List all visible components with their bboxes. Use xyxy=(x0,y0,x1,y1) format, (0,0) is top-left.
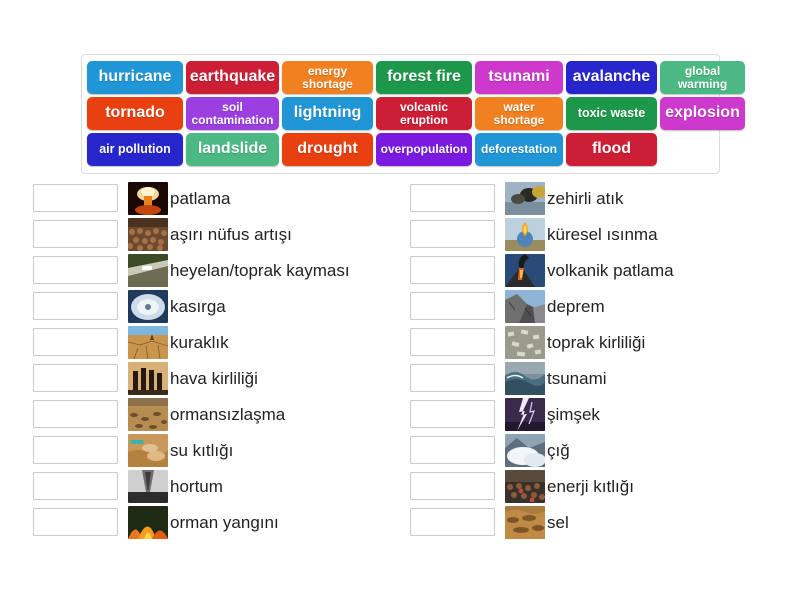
answer-label: sel xyxy=(547,514,569,531)
answer-drop-box[interactable] xyxy=(33,184,118,212)
word-tile-tsunami[interactable]: tsunami xyxy=(475,61,563,94)
word-tile-deforestation[interactable]: deforestation xyxy=(475,133,563,166)
word-tile-water-shortage[interactable]: water shortage xyxy=(475,97,563,130)
answer-drop-box[interactable] xyxy=(410,328,495,356)
answer-label: tsunami xyxy=(547,370,607,387)
answer-row: su kıtlığı xyxy=(33,432,413,468)
word-tile-earthquake[interactable]: earthquake xyxy=(186,61,279,94)
answer-row: patlama xyxy=(33,180,413,216)
crowd-overpopulation-thumbnail xyxy=(128,218,168,251)
energy-shortage-crowd-thumbnail xyxy=(505,470,545,503)
answer-label: su kıtlığı xyxy=(170,442,233,459)
right-answer-column: zehirli atıkküresel ısınmavolkanik patla… xyxy=(410,180,790,540)
word-tile-tornado[interactable]: tornado xyxy=(87,97,183,130)
word-tile-flood[interactable]: flood xyxy=(566,133,657,166)
left-answer-column: patlamaaşırı nüfus artışıheyelan/toprak … xyxy=(33,180,413,540)
answer-label: hortum xyxy=(170,478,223,495)
word-tile-air-pollution[interactable]: air pollution xyxy=(87,133,183,166)
answer-drop-box[interactable] xyxy=(410,256,495,284)
answer-row: enerji kıtlığı xyxy=(410,468,790,504)
smokestacks-air-pollution-thumbnail xyxy=(128,362,168,395)
answer-drop-box[interactable] xyxy=(33,436,118,464)
answer-label: kuraklık xyxy=(170,334,229,351)
earthquake-rubble-thumbnail xyxy=(505,290,545,323)
answer-row: tsunami xyxy=(410,360,790,396)
word-bank-row: hurricaneearthquakeenergy shortageforest… xyxy=(87,61,714,94)
answer-drop-box[interactable] xyxy=(33,256,118,284)
matchup-exercise-page: hurricaneearthquakeenergy shortageforest… xyxy=(0,0,800,600)
answer-drop-box[interactable] xyxy=(410,508,495,536)
answer-drop-box[interactable] xyxy=(410,400,495,428)
answer-drop-box[interactable] xyxy=(33,508,118,536)
soil-contamination-litter-thumbnail xyxy=(505,326,545,359)
answer-label: şimşek xyxy=(547,406,600,423)
answer-drop-box[interactable] xyxy=(410,364,495,392)
answer-drop-box[interactable] xyxy=(410,292,495,320)
word-tile-avalanche[interactable]: avalanche xyxy=(566,61,657,94)
answer-drop-box[interactable] xyxy=(33,328,118,356)
water-scarcity-hands-thumbnail xyxy=(128,434,168,467)
answer-row: toprak kirliliği xyxy=(410,324,790,360)
answer-drop-box[interactable] xyxy=(33,472,118,500)
volcanic-eruption-thumbnail xyxy=(505,254,545,287)
word-tile-lightning[interactable]: lightning xyxy=(282,97,373,130)
word-tile-drought[interactable]: drought xyxy=(282,133,373,166)
answer-row: hortum xyxy=(33,468,413,504)
answer-label: patlama xyxy=(170,190,230,207)
flood-thumbnail xyxy=(505,506,545,539)
answer-drop-box[interactable] xyxy=(33,400,118,428)
tsunami-wave-thumbnail xyxy=(505,362,545,395)
word-tile-hurricane[interactable]: hurricane xyxy=(87,61,183,94)
answer-label: orman yangını xyxy=(170,514,279,531)
answer-label: hava kirliliği xyxy=(170,370,258,387)
answer-row: kasırga xyxy=(33,288,413,324)
answer-row: küresel ısınma xyxy=(410,216,790,252)
answer-row: deprem xyxy=(410,288,790,324)
answer-row: sel xyxy=(410,504,790,540)
word-bank-row: tornadosoil contaminationlightningvolcan… xyxy=(87,97,714,130)
word-tile-overpopulation[interactable]: overpopulation xyxy=(376,133,472,166)
answer-label: heyelan/toprak kayması xyxy=(170,262,350,279)
deforestation-stumps-thumbnail xyxy=(128,398,168,431)
word-tile-forest-fire[interactable]: forest fire xyxy=(376,61,472,94)
answer-drop-box[interactable] xyxy=(410,436,495,464)
drought-cracked-earth-thumbnail xyxy=(128,326,168,359)
word-bank-panel: hurricaneearthquakeenergy shortageforest… xyxy=(81,54,720,174)
answer-drop-box[interactable] xyxy=(410,184,495,212)
word-tile-global-warming[interactable]: global warming xyxy=(660,61,745,94)
answer-label: ormansızlaşma xyxy=(170,406,285,423)
word-tile-volcanic-eruption[interactable]: volcanic eruption xyxy=(376,97,472,130)
answer-drop-box[interactable] xyxy=(410,472,495,500)
answer-row: aşırı nüfus artışı xyxy=(33,216,413,252)
answer-drop-box[interactable] xyxy=(33,364,118,392)
answer-drop-box[interactable] xyxy=(33,220,118,248)
word-tile-explosion[interactable]: explosion xyxy=(660,97,745,130)
forest-fire-thumbnail xyxy=(128,506,168,539)
answer-row: volkanik patlama xyxy=(410,252,790,288)
landslide-road-thumbnail xyxy=(128,254,168,287)
answer-label: çığ xyxy=(547,442,570,459)
answer-row: orman yangını xyxy=(33,504,413,540)
answer-label: toprak kirliliği xyxy=(547,334,645,351)
answer-drop-box[interactable] xyxy=(33,292,118,320)
answer-label: zehirli atık xyxy=(547,190,624,207)
answer-label: kasırga xyxy=(170,298,226,315)
avalanche-snow-thumbnail xyxy=(505,434,545,467)
answer-row: kuraklık xyxy=(33,324,413,360)
hurricane-satellite-thumbnail xyxy=(128,290,168,323)
word-tile-landslide[interactable]: landslide xyxy=(186,133,279,166)
global-warming-burning-globe-thumbnail xyxy=(505,218,545,251)
answer-label: küresel ısınma xyxy=(547,226,658,243)
lightning-bolt-thumbnail xyxy=(505,398,545,431)
answer-label: enerji kıtlığı xyxy=(547,478,634,495)
word-tile-toxic-waste[interactable]: toxic waste xyxy=(566,97,657,130)
answer-row: heyelan/toprak kayması xyxy=(33,252,413,288)
explosion-mushroom-cloud-thumbnail xyxy=(128,182,168,215)
answer-label: volkanik patlama xyxy=(547,262,674,279)
answer-row: şimşek xyxy=(410,396,790,432)
answer-row: çığ xyxy=(410,432,790,468)
tornado-funnel-thumbnail xyxy=(128,470,168,503)
word-tile-soil-contamination[interactable]: soil contamination xyxy=(186,97,279,130)
answer-drop-box[interactable] xyxy=(410,220,495,248)
word-tile-energy-shortage[interactable]: energy shortage xyxy=(282,61,373,94)
answer-row: hava kirliliği xyxy=(33,360,413,396)
answer-label: deprem xyxy=(547,298,605,315)
answer-row: ormansızlaşma xyxy=(33,396,413,432)
toxic-waste-barrels-thumbnail xyxy=(505,182,545,215)
answer-row: zehirli atık xyxy=(410,180,790,216)
word-bank-row: air pollutionlandslidedroughtoverpopulat… xyxy=(87,133,714,166)
answer-label: aşırı nüfus artışı xyxy=(170,226,292,243)
